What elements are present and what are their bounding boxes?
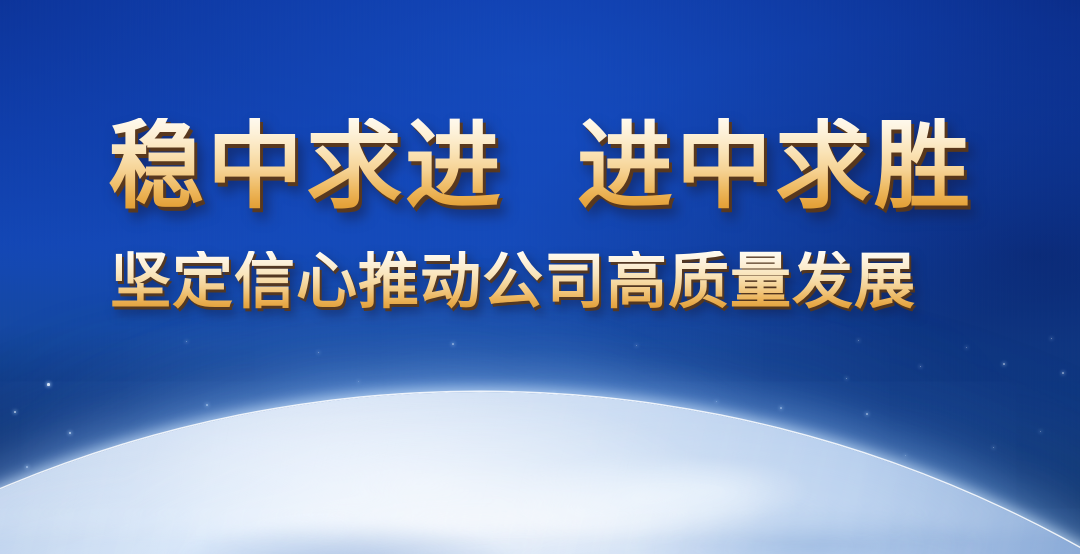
promo-banner: 稳中求进 进中求胜 坚定信心推动公司高质量发展 [0,0,1080,554]
page-title: 稳中求进 进中求胜 [108,118,1008,214]
page-subtitle: 坚定信心推动公司高质量发展 [110,251,1008,312]
headline-block: 稳中求进 进中求胜 坚定信心推动公司高质量发展 [108,118,1008,312]
earth-globe [0,392,1080,554]
